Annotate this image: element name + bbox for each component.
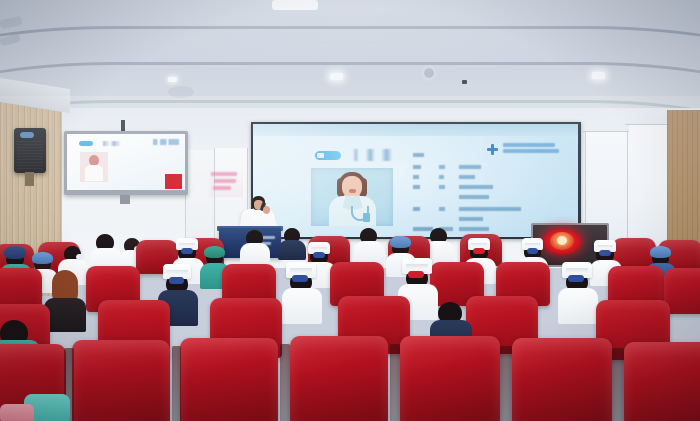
scrub-cap-icon (32, 252, 53, 264)
auditorium-photo (0, 0, 700, 421)
portrait-mouth (349, 189, 356, 193)
auditorium-seat (72, 340, 170, 421)
seat-gap (280, 344, 290, 421)
slide-text-value (439, 185, 445, 189)
scrub-cap-icon (650, 246, 671, 258)
face-mask (76, 254, 84, 260)
slide-text-line (459, 165, 481, 169)
slide-text-line (459, 207, 521, 211)
slide-text-key (413, 207, 420, 211)
attendee-labcoat (558, 288, 598, 324)
slide-text-key (413, 165, 421, 169)
portrait-id-badge (363, 213, 370, 222)
nurse-cap-flower (408, 271, 424, 278)
attendee-labcoat (354, 241, 384, 263)
logo-text-line (503, 143, 555, 147)
nurse-cap-bow (181, 248, 193, 254)
seat-gap (172, 346, 181, 421)
scrub-cap-icon (204, 246, 225, 258)
slide-text-value (439, 207, 445, 211)
seat-gap (500, 346, 512, 421)
nurse-cap-bow (292, 275, 308, 282)
nurse-cap-bow (313, 252, 325, 258)
nurse-cap-bow (568, 275, 584, 282)
slide-portrait-photo (311, 168, 393, 226)
blind-headrail (583, 124, 629, 132)
slide-text-line (459, 217, 483, 221)
auditorium-seat (624, 342, 700, 421)
seat-gap (390, 344, 400, 421)
banner-text-line (214, 179, 236, 183)
attendee-labcoat (282, 288, 322, 324)
nurse-cap-flower (473, 248, 485, 254)
nurse-cap-bow (527, 248, 538, 254)
attendee-suit (278, 240, 306, 260)
auditorium-seat (290, 336, 388, 421)
presenter-hand (263, 206, 270, 214)
slide-text-line (459, 195, 489, 199)
nurse-cap-bow (169, 277, 184, 284)
slide-corner-logo (489, 140, 561, 157)
slide-text-line (459, 175, 475, 179)
slide-title-text (353, 149, 401, 161)
attendee-top (44, 298, 86, 332)
slide-text-key (413, 153, 424, 157)
seated-audience (0, 228, 700, 421)
slide-tag-notch (317, 153, 324, 158)
tv-slide-tag-icon (79, 141, 93, 146)
banner-text-line (211, 172, 237, 176)
speaker-bracket (25, 172, 34, 186)
attendee-labcoat (240, 243, 270, 265)
banner-text-line (213, 186, 231, 190)
tv-slide-title (103, 141, 121, 146)
blind-headrail (625, 116, 671, 125)
slide-text-line (459, 185, 493, 189)
slide-text-value (439, 175, 444, 179)
main-projection-screen (253, 124, 578, 237)
slide-text-key (413, 185, 420, 189)
seat-gap (612, 348, 624, 421)
pink-wall-banner (209, 167, 243, 197)
logo-text-line (503, 149, 559, 153)
scrub-cap-icon (390, 236, 411, 248)
scrub-cap-icon (4, 246, 26, 259)
auditorium-seat (512, 338, 612, 421)
tv-red-overlay (165, 174, 182, 189)
auditorium-seat (180, 338, 278, 421)
nurse-cap-bow (599, 250, 611, 256)
tv-corner-logo (153, 139, 179, 145)
speaker-grille-icon (17, 141, 43, 169)
tv-screen (67, 134, 185, 190)
medical-cross-icon-bar (487, 148, 498, 151)
portrait-body (85, 165, 103, 181)
speaker-badge (20, 132, 34, 138)
auditorium-seat (400, 336, 500, 421)
tv-wall-mount (120, 195, 130, 204)
pink-item (0, 404, 34, 421)
slide-text-block (413, 147, 538, 229)
portrait-face (342, 176, 362, 198)
slide-text-value (439, 165, 445, 169)
tv-portrait-photo (80, 152, 108, 182)
screen-top-band (253, 124, 578, 136)
slide-text-key (413, 175, 419, 179)
